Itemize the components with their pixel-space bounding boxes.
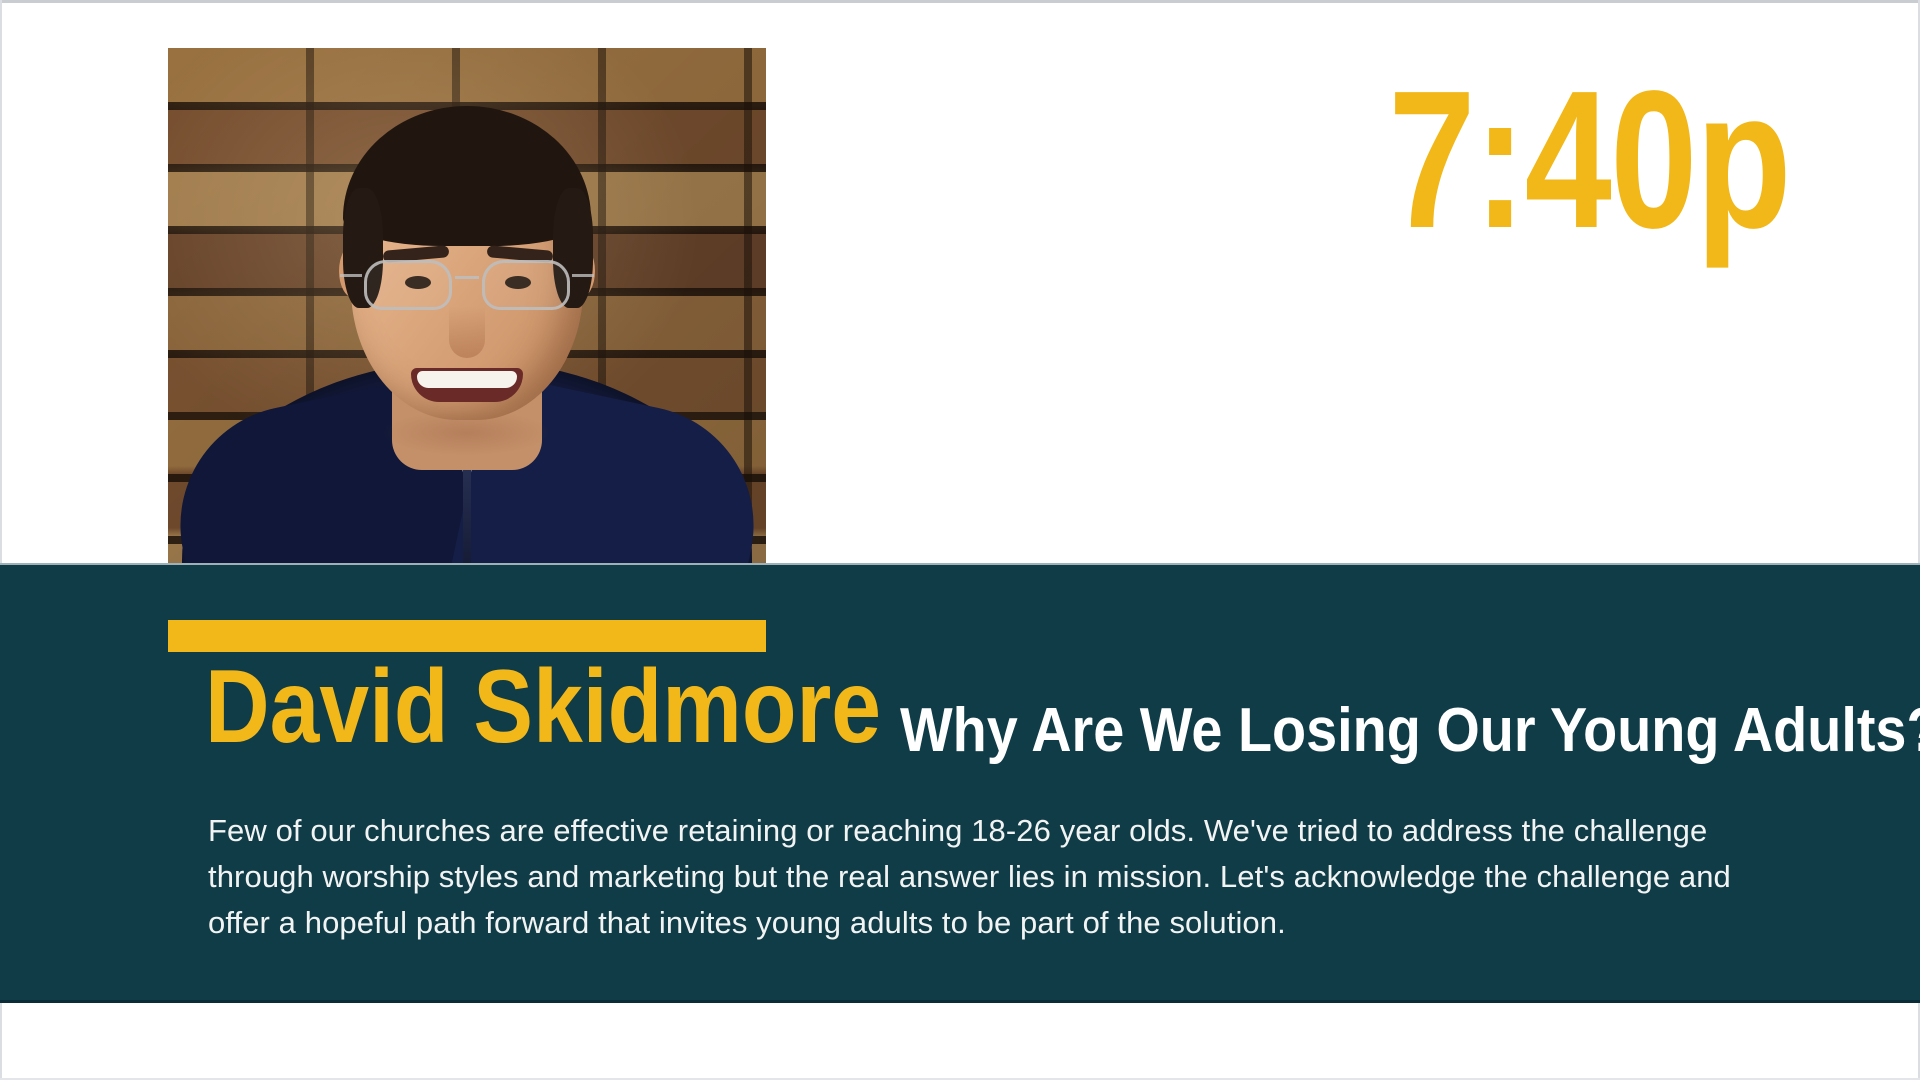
session-title: Why Are We Losing Our Young Adults?	[900, 700, 1920, 762]
speaker-session-slide: 7:40p	[0, 0, 1920, 1080]
glasses-temple-left	[340, 274, 362, 277]
glasses-bridge	[455, 276, 479, 279]
speaker-name: David Skidmore	[205, 655, 881, 759]
photo-accent-bar	[168, 620, 766, 652]
nose	[449, 306, 485, 358]
session-time: 7:40p	[1388, 62, 1790, 258]
session-description: Few of our churches are effective retain…	[208, 808, 1788, 946]
glasses-temple-right	[572, 274, 594, 277]
glasses-lens-left	[364, 260, 452, 310]
speaker-photo	[168, 48, 766, 620]
top-border	[0, 0, 1920, 3]
glasses-lens-right	[482, 260, 570, 310]
mouth	[411, 368, 523, 402]
speaker-figure	[168, 48, 766, 620]
band-bottom-hairline	[0, 1000, 1920, 1003]
glasses-icon	[352, 260, 582, 306]
portrait-image	[168, 48, 766, 620]
chin-shading	[382, 410, 552, 456]
teeth	[417, 371, 517, 388]
